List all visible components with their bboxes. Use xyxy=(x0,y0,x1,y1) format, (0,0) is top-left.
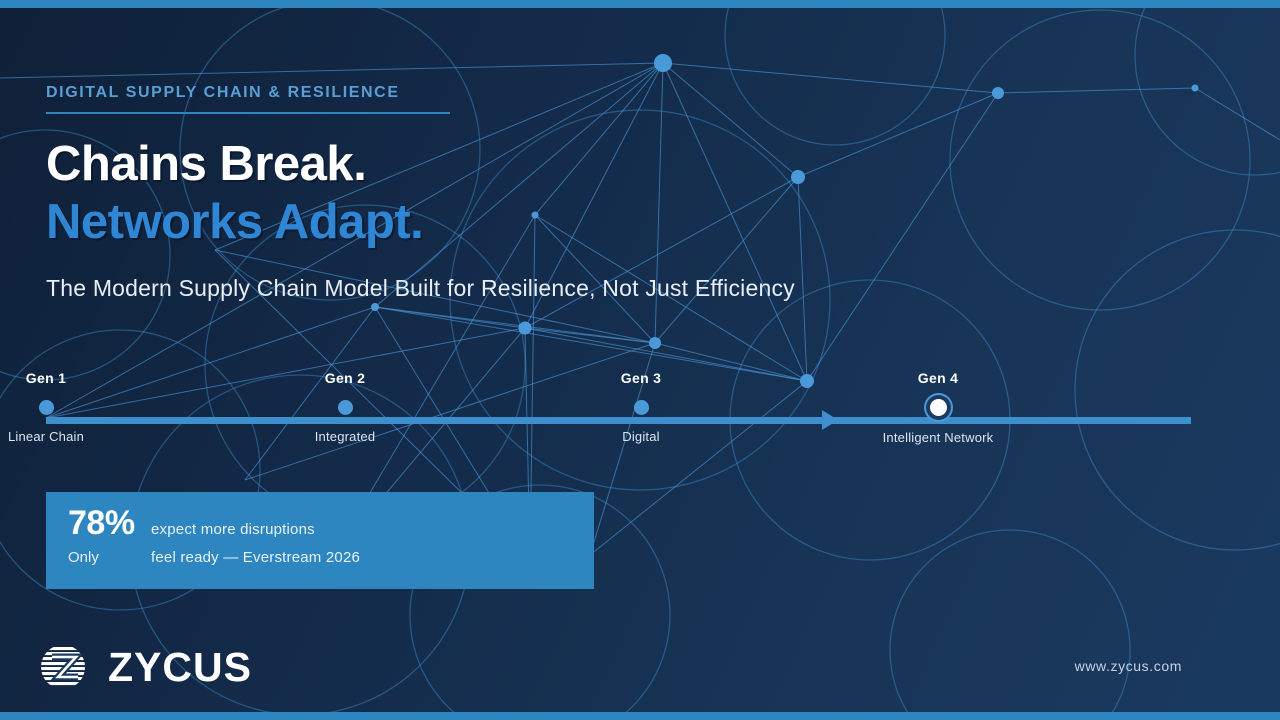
stat-secondary-prefix: Only xyxy=(46,549,151,566)
timeline-stop-caption: Digital xyxy=(546,429,736,444)
timeline-stop-title: Gen 2 xyxy=(250,370,440,386)
timeline-stop-caption: Intelligent Network xyxy=(843,430,1033,445)
timeline-node-icon xyxy=(634,400,649,415)
zycus-logo-icon xyxy=(32,642,94,692)
stat-value: 78% xyxy=(46,504,151,543)
headline-line-2: Networks Adapt. xyxy=(46,194,423,252)
stat-secondary-label: feel ready — Everstream 2026 xyxy=(151,549,360,566)
brand-logo: ZYCUS xyxy=(32,642,252,692)
headline-line-1: Chains Break. xyxy=(46,136,423,194)
brand-wordmark: ZYCUS xyxy=(108,644,252,691)
timeline-stop-gen-1[interactable]: Gen 1 Linear Chain xyxy=(0,370,141,444)
top-accent-bar xyxy=(0,0,1280,8)
timeline-stop-title: Gen 1 xyxy=(0,370,141,386)
timeline-stop-caption: Integrated xyxy=(250,429,440,444)
stat-row-primary: 78% expect more disruptions xyxy=(46,504,594,543)
timeline-stop-caption: Linear Chain xyxy=(0,429,141,444)
timeline-node-icon xyxy=(338,400,353,415)
slide-canvas: DIGITAL SUPPLY CHAIN & RESILIENCE Chains… xyxy=(0,0,1280,720)
stat-value-label: expect more disruptions xyxy=(151,521,315,538)
website-url: www.zycus.com xyxy=(1075,658,1182,674)
eyebrow-label: DIGITAL SUPPLY CHAIN & RESILIENCE xyxy=(46,84,450,102)
page-title: Chains Break. Networks Adapt. xyxy=(46,136,423,252)
timeline-node-icon xyxy=(39,400,54,415)
bottom-accent-bar xyxy=(0,712,1280,720)
evolution-timeline: Gen 1 Linear Chain Gen 2 Integrated Gen … xyxy=(0,370,1280,465)
stat-row-secondary: Only feel ready — Everstream 2026 xyxy=(46,549,594,566)
network-nodes xyxy=(371,54,1199,388)
timeline-stop-title: Gen 4 xyxy=(843,370,1033,386)
timeline-stop-gen-4[interactable]: Gen 4 Intelligent Network xyxy=(843,370,1033,445)
timeline-node-active-icon xyxy=(930,399,947,416)
timeline-stop-title: Gen 3 xyxy=(546,370,736,386)
timeline-stop-gen-2[interactable]: Gen 2 Integrated xyxy=(250,370,440,444)
timeline-stop-gen-3[interactable]: Gen 3 Digital xyxy=(546,370,736,444)
statistics-callout: 78% expect more disruptions Only feel re… xyxy=(46,492,594,589)
eyebrow-section: DIGITAL SUPPLY CHAIN & RESILIENCE xyxy=(46,84,450,114)
timeline-arrow-icon xyxy=(822,410,838,430)
subtitle: The Modern Supply Chain Model Built for … xyxy=(46,275,795,302)
eyebrow-divider xyxy=(46,112,450,114)
